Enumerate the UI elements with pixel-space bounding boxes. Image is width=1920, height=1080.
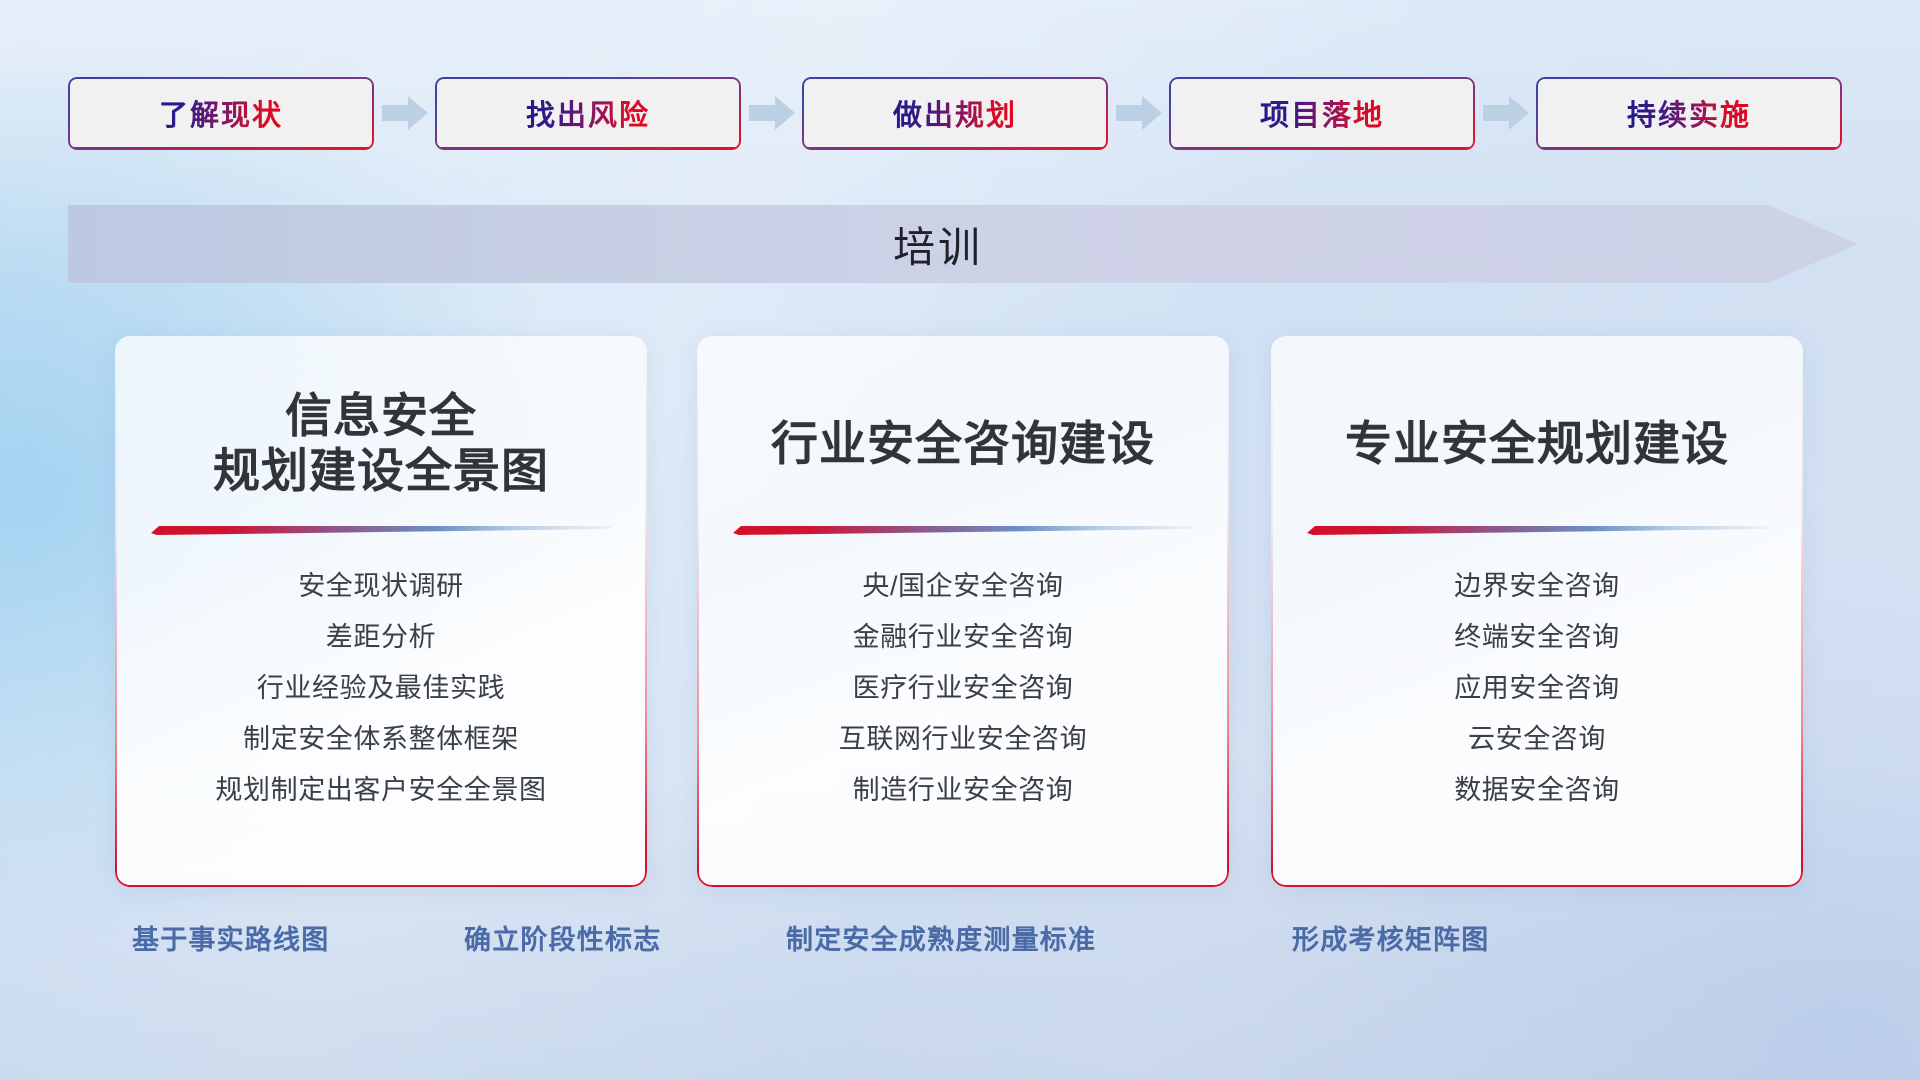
list-item: 应用安全咨询 xyxy=(1271,663,1803,714)
step-box-3[interactable]: 做出规划 xyxy=(802,77,1108,150)
card-divider xyxy=(151,522,611,535)
list-item: 央/国企安全咨询 xyxy=(697,561,1229,612)
arrow-right-icon xyxy=(1475,96,1536,130)
arrow-right-icon xyxy=(741,96,802,130)
step-label-2: 找出风险 xyxy=(526,92,650,134)
card-item-list: 边界安全咨询 终端安全咨询 应用安全咨询 云安全咨询 数据安全咨询 xyxy=(1271,561,1803,816)
card-title: 行业安全咨询建设 xyxy=(697,380,1229,508)
list-item: 安全现状调研 xyxy=(115,561,647,612)
card-information-security-blueprint[interactable]: 信息安全 规划建设全景图 安全现状调研 差 xyxy=(115,336,647,887)
outcome-label-3: 制定安全成熟度测量标准 xyxy=(786,918,1096,957)
card-professional-security-planning[interactable]: 专业安全规划建设 边界安全咨询 终端安全咨询 xyxy=(1271,336,1803,887)
list-item: 数据安全咨询 xyxy=(1271,765,1803,816)
card-item-list: 安全现状调研 差距分析 行业经验及最佳实践 制定安全体系整体框架 规划制定出客户… xyxy=(115,561,647,816)
card-divider xyxy=(1307,522,1767,535)
arrow-right-icon xyxy=(374,96,435,130)
step-box-5[interactable]: 持续实施 xyxy=(1536,77,1842,150)
list-item: 云安全咨询 xyxy=(1271,714,1803,765)
list-item: 制造行业安全咨询 xyxy=(697,765,1229,816)
card-group: 信息安全 规划建设全景图 安全现状调研 差 xyxy=(0,336,1920,886)
list-item: 制定安全体系整体框架 xyxy=(115,714,647,765)
list-item: 行业经验及最佳实践 xyxy=(115,663,647,714)
list-item: 边界安全咨询 xyxy=(1271,561,1803,612)
card-divider xyxy=(733,522,1193,535)
outcome-label-4: 形成考核矩阵图 xyxy=(1292,918,1489,957)
list-item: 终端安全咨询 xyxy=(1271,612,1803,663)
card-title-line: 行业安全咨询建设 xyxy=(697,417,1229,472)
list-item: 规划制定出客户安全全景图 xyxy=(115,765,647,816)
card-item-list: 央/国企安全咨询 金融行业安全咨询 医疗行业安全咨询 互联网行业安全咨询 制造行… xyxy=(697,561,1229,816)
list-item: 金融行业安全咨询 xyxy=(697,612,1229,663)
list-item: 差距分析 xyxy=(115,612,647,663)
arrow-right-icon xyxy=(1108,96,1169,130)
training-banner: 培训 xyxy=(68,205,1858,283)
step-label-5: 持续实施 xyxy=(1627,92,1751,134)
step-box-1[interactable]: 了解现状 xyxy=(68,77,374,150)
step-label-1: 了解现状 xyxy=(159,92,283,134)
card-title: 专业安全规划建设 xyxy=(1271,380,1803,508)
list-item: 医疗行业安全咨询 xyxy=(697,663,1229,714)
card-industry-security-consulting[interactable]: 行业安全咨询建设 央/国企安全咨询 金融行业安全咨询 xyxy=(697,336,1229,887)
outcome-label-1: 基于事实路线图 xyxy=(132,918,329,957)
card-title-line: 专业安全规划建设 xyxy=(1271,417,1803,472)
outcome-label-row: 基于事实路线图 确立阶段性标志 制定安全成熟度测量标准 形成考核矩阵图 xyxy=(0,918,1920,974)
card-title: 信息安全 规划建设全景图 xyxy=(115,380,647,508)
step-label-4: 项目落地 xyxy=(1260,92,1384,134)
card-title-line: 规划建设全景图 xyxy=(115,444,647,499)
list-item: 互联网行业安全咨询 xyxy=(697,714,1229,765)
card-title-line: 信息安全 xyxy=(115,389,647,444)
step-box-4[interactable]: 项目落地 xyxy=(1169,77,1475,150)
outcome-label-2: 确立阶段性标志 xyxy=(464,918,661,957)
step-box-2[interactable]: 找出风险 xyxy=(435,77,741,150)
step-label-3: 做出规划 xyxy=(893,92,1017,134)
process-step-flow: 了解现状 找出风险 做出规划 项目落地 持续实施 xyxy=(68,76,1858,150)
banner-title: 培训 xyxy=(68,205,1808,283)
